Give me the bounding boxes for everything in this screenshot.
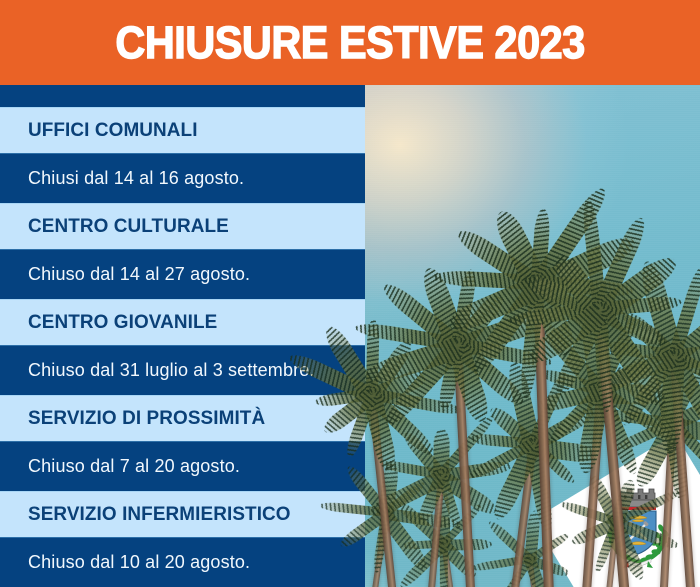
- row-detail-servizio-infermieristico: Chiuso dal 10 al 20 agosto.: [0, 537, 365, 587]
- row-heading-label: SERVIZIO DI PROSSIMITÀ: [28, 407, 265, 430]
- palm-tree: [528, 553, 538, 587]
- row-heading-label: SERVIZIO INFERMIERISTICO: [28, 503, 291, 526]
- row-heading-uffici-comunali: UFFICI COMUNALI: [0, 107, 365, 153]
- row-heading-label: UFFICI COMUNALI: [28, 119, 198, 142]
- row-detail-uffici-comunali: Chiusi dal 14 al 16 agosto.: [0, 153, 365, 203]
- row-detail-label: Chiuso dal 31 luglio al 3 settembre.: [28, 360, 315, 381]
- row-heading-servizio-di-prossimita: SERVIZIO DI PROSSIMITÀ: [0, 395, 365, 441]
- row-detail-label: Chiusi dal 14 al 16 agosto.: [28, 168, 244, 189]
- row-detail-label: Chiuso dal 10 al 20 agosto.: [28, 552, 250, 573]
- row-heading-label: CENTRO CULTURALE: [28, 215, 229, 238]
- row-heading-servizio-infermieristico: SERVIZIO INFERMIERISTICO: [0, 491, 365, 537]
- page-title: CHIUSURE ESTIVE 2023: [115, 17, 584, 69]
- row-detail-label: Chiuso dal 7 al 20 agosto.: [28, 456, 240, 477]
- row-detail-label: Chiuso dal 14 al 27 agosto.: [28, 264, 250, 285]
- row-detail-centro-culturale: Chiuso dal 14 al 27 agosto.: [0, 249, 365, 299]
- row-heading-centro-giovanile: CENTRO GIOVANILE: [0, 299, 365, 345]
- poster-root: CHIUSURE ESTIVE 2023 UFFICI COMUNALI Chi…: [0, 0, 700, 587]
- closures-panel: UFFICI COMUNALI Chiusi dal 14 al 16 agos…: [0, 85, 365, 587]
- poster-header: CHIUSURE ESTIVE 2023: [0, 0, 700, 85]
- panel-top-spacer: [0, 85, 365, 107]
- row-detail-servizio-di-prossimita: Chiuso dal 7 al 20 agosto.: [0, 441, 365, 491]
- row-heading-centro-culturale: CENTRO CULTURALE: [0, 203, 365, 249]
- row-heading-label: CENTRO GIOVANILE: [28, 311, 217, 334]
